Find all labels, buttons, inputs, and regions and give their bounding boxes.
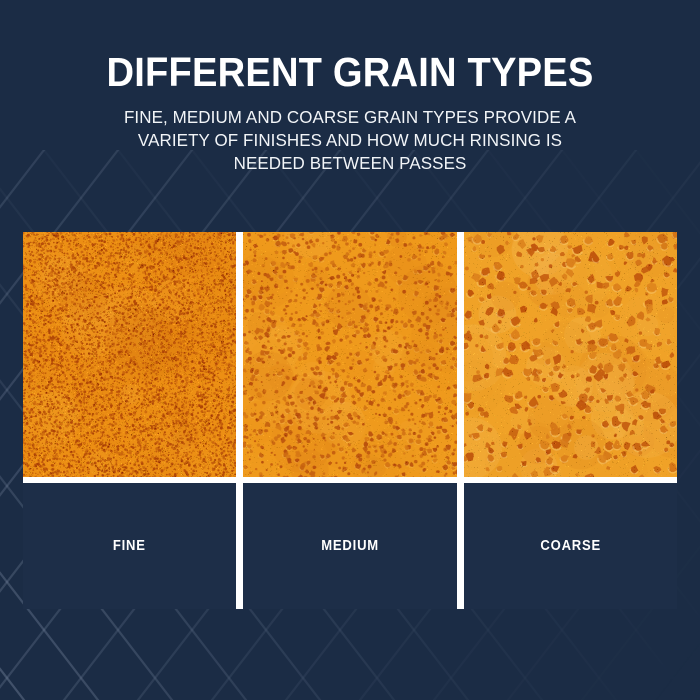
grain-column-medium: MEDIUM: [243, 232, 456, 609]
subtitle-line: VARIETY OF FINISHES AND HOW MUCH RINSING…: [88, 129, 612, 152]
page-title: DIFFERENT GRAIN TYPES: [25, 0, 676, 94]
medium-grain-texture: [243, 232, 456, 477]
fine-grain-texture: [23, 232, 236, 477]
grain-label-coarse: COARSE: [540, 538, 601, 554]
grain-column-coarse: COARSE: [464, 232, 677, 609]
fine-grain-texture-canvas: [23, 232, 236, 477]
grain-label-cell-fine: FINE: [23, 483, 236, 609]
page-subtitle: FINE, MEDIUM AND COARSE GRAIN TYPES PROV…: [88, 94, 612, 175]
grain-column-fine: FINE: [23, 232, 236, 609]
infographic-canvas: DIFFERENT GRAIN TYPES FINE, MEDIUM AND C…: [0, 0, 700, 700]
medium-grain-texture-canvas: [243, 232, 456, 477]
grain-label-cell-medium: MEDIUM: [243, 483, 456, 609]
grain-label-medium: MEDIUM: [321, 538, 379, 554]
grain-label-cell-coarse: COARSE: [464, 483, 677, 609]
grain-label-fine: FINE: [113, 538, 146, 554]
header-block: DIFFERENT GRAIN TYPES FINE, MEDIUM AND C…: [0, 0, 700, 175]
coarse-grain-texture: [464, 232, 677, 477]
grain-comparison-grid: FINE MEDIUM COARSE: [23, 232, 677, 609]
subtitle-line: NEEDED BETWEEN PASSES: [88, 152, 612, 175]
coarse-grain-texture-canvas: [464, 232, 677, 477]
subtitle-line: FINE, MEDIUM AND COARSE GRAIN TYPES PROV…: [88, 106, 612, 129]
